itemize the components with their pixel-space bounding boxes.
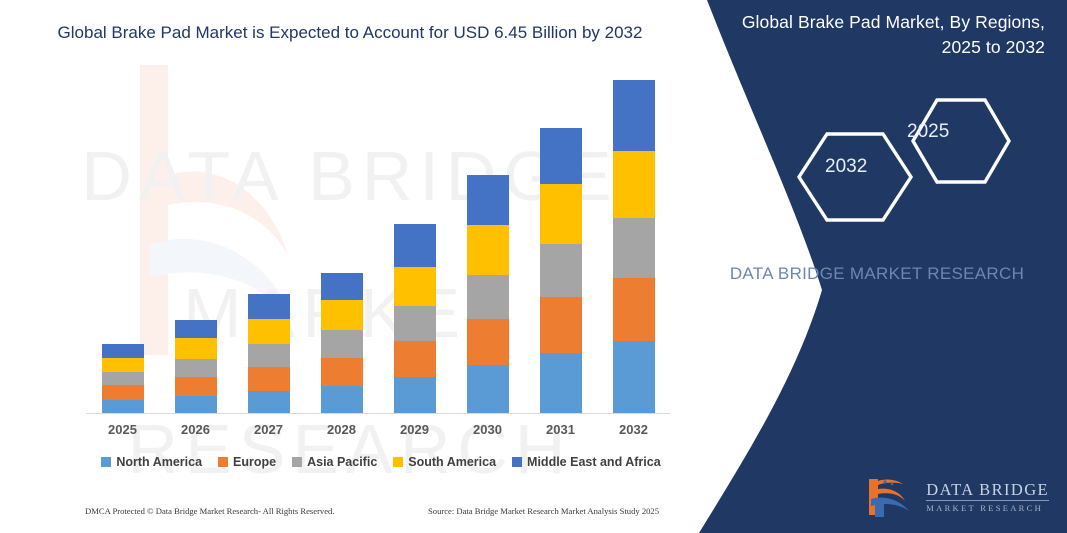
bar-column bbox=[87, 344, 159, 413]
bar-segment bbox=[248, 391, 290, 413]
hexagon-label-end-year: 2032 bbox=[825, 156, 867, 178]
legend-item[interactable]: South America bbox=[393, 455, 496, 469]
bar-segment bbox=[467, 175, 509, 224]
legend-item[interactable]: Europe bbox=[218, 455, 276, 469]
bar-segment bbox=[175, 359, 217, 377]
stacked-bar bbox=[175, 320, 217, 413]
bar-segment bbox=[102, 400, 144, 413]
infographic-poster: Global Brake Pad Market, By Regions, 202… bbox=[0, 0, 1067, 533]
footer-copyright: DMCA Protected © Data Bridge Market Rese… bbox=[85, 506, 335, 516]
bar-segment bbox=[467, 225, 509, 276]
legend-item[interactable]: Middle East and Africa bbox=[512, 455, 661, 469]
bar-segment bbox=[248, 294, 290, 319]
legend-swatch-icon bbox=[101, 457, 111, 467]
x-axis-label: 2030 bbox=[452, 422, 524, 437]
bar-segment bbox=[540, 244, 582, 297]
bar-segment bbox=[394, 224, 436, 267]
bar-segment bbox=[248, 344, 290, 367]
legend-item[interactable]: Asia Pacific bbox=[292, 455, 377, 469]
stacked-bar bbox=[394, 224, 436, 413]
bar-column bbox=[525, 128, 597, 413]
bar-column bbox=[598, 80, 670, 413]
hexagon-group: 2032 2025 bbox=[785, 96, 1065, 224]
bar-segment bbox=[540, 353, 582, 413]
footer-source: Source: Data Bridge Market Research Mark… bbox=[428, 506, 659, 516]
x-axis-labels: 20252026202720282029203020312032 bbox=[86, 422, 670, 437]
bar-segment bbox=[540, 297, 582, 353]
bar-segment bbox=[321, 273, 363, 300]
x-axis-label: 2032 bbox=[598, 422, 670, 437]
x-axis-line bbox=[86, 413, 670, 414]
bar-segment bbox=[613, 278, 655, 341]
bar-segment bbox=[102, 385, 144, 399]
legend-label: Europe bbox=[233, 455, 276, 469]
bar-segment bbox=[540, 184, 582, 244]
bar-column bbox=[452, 175, 524, 413]
legend-item[interactable]: North America bbox=[101, 455, 202, 469]
bar-segment bbox=[613, 218, 655, 278]
legend-swatch-icon bbox=[292, 457, 302, 467]
bar-segment bbox=[175, 396, 217, 413]
bar-segment bbox=[321, 300, 363, 330]
legend-swatch-icon bbox=[218, 457, 228, 467]
data-bridge-logo: DATA BRIDGE MARKET RESEARCH bbox=[861, 475, 1049, 519]
legend-label: Asia Pacific bbox=[307, 455, 377, 469]
bar-segment bbox=[467, 365, 509, 413]
legend-swatch-icon bbox=[512, 457, 522, 467]
bar-column bbox=[233, 294, 305, 413]
x-axis-label: 2026 bbox=[160, 422, 232, 437]
right-panel: Global Brake Pad Market, By Regions, 202… bbox=[677, 0, 1067, 533]
plot-region bbox=[86, 80, 670, 413]
bar-segment bbox=[613, 151, 655, 217]
bar-segment bbox=[613, 341, 655, 413]
stacked-bar bbox=[467, 175, 509, 413]
x-axis-label: 2029 bbox=[379, 422, 451, 437]
bar-segment bbox=[540, 128, 582, 184]
x-axis-label: 2028 bbox=[306, 422, 378, 437]
bar-segment bbox=[467, 319, 509, 365]
hexagon-label-start-year: 2025 bbox=[907, 121, 949, 143]
x-axis-label: 2031 bbox=[525, 422, 597, 437]
bar-segment bbox=[321, 330, 363, 358]
stacked-bar bbox=[102, 344, 144, 413]
bar-segment bbox=[102, 358, 144, 372]
bar-column bbox=[379, 224, 451, 413]
bar-segment bbox=[394, 377, 436, 413]
bar-segment bbox=[175, 320, 217, 338]
bar-segment bbox=[321, 358, 363, 387]
stacked-bar bbox=[613, 80, 655, 413]
bar-segment bbox=[394, 267, 436, 306]
x-axis-label: 2027 bbox=[233, 422, 305, 437]
bar-segment bbox=[394, 306, 436, 341]
bar-segment bbox=[248, 319, 290, 344]
region-panel-title: Global Brake Pad Market, By Regions, 202… bbox=[727, 10, 1045, 60]
stacked-bar bbox=[248, 294, 290, 413]
bar-segment bbox=[248, 367, 290, 391]
legend-label: South America bbox=[408, 455, 496, 469]
bar-segment bbox=[613, 80, 655, 151]
bar-segment bbox=[467, 275, 509, 318]
legend-label: Middle East and Africa bbox=[527, 455, 661, 469]
stacked-bar bbox=[540, 128, 582, 413]
bar-segment bbox=[394, 341, 436, 377]
bar-segment bbox=[175, 377, 217, 396]
bar-column bbox=[160, 320, 232, 413]
legend-label: North America bbox=[116, 455, 202, 469]
bar-segment bbox=[321, 386, 363, 413]
stacked-bar bbox=[321, 273, 363, 413]
logo-primary-text: DATA BRIDGE bbox=[926, 482, 1049, 502]
chart-title: Global Brake Pad Market is Expected to A… bbox=[20, 20, 680, 46]
bar-group bbox=[86, 80, 670, 413]
chart-area: DATA BRIDGE MARKET RESEARCH Global Brake… bbox=[0, 0, 700, 533]
bar-segment bbox=[175, 338, 217, 359]
bar-column bbox=[306, 273, 378, 413]
x-axis-label: 2025 bbox=[87, 422, 159, 437]
legend-swatch-icon bbox=[393, 457, 403, 467]
data-bridge-logo-icon bbox=[861, 475, 917, 519]
bar-segment bbox=[102, 372, 144, 385]
brand-name-text: DATA BRIDGE MARKET RESEARCH bbox=[727, 262, 1027, 287]
chart-legend: North AmericaEuropeAsia PacificSouth Ame… bbox=[86, 455, 676, 469]
logo-secondary-text: MARKET RESEARCH bbox=[926, 504, 1049, 513]
bar-segment bbox=[102, 344, 144, 357]
